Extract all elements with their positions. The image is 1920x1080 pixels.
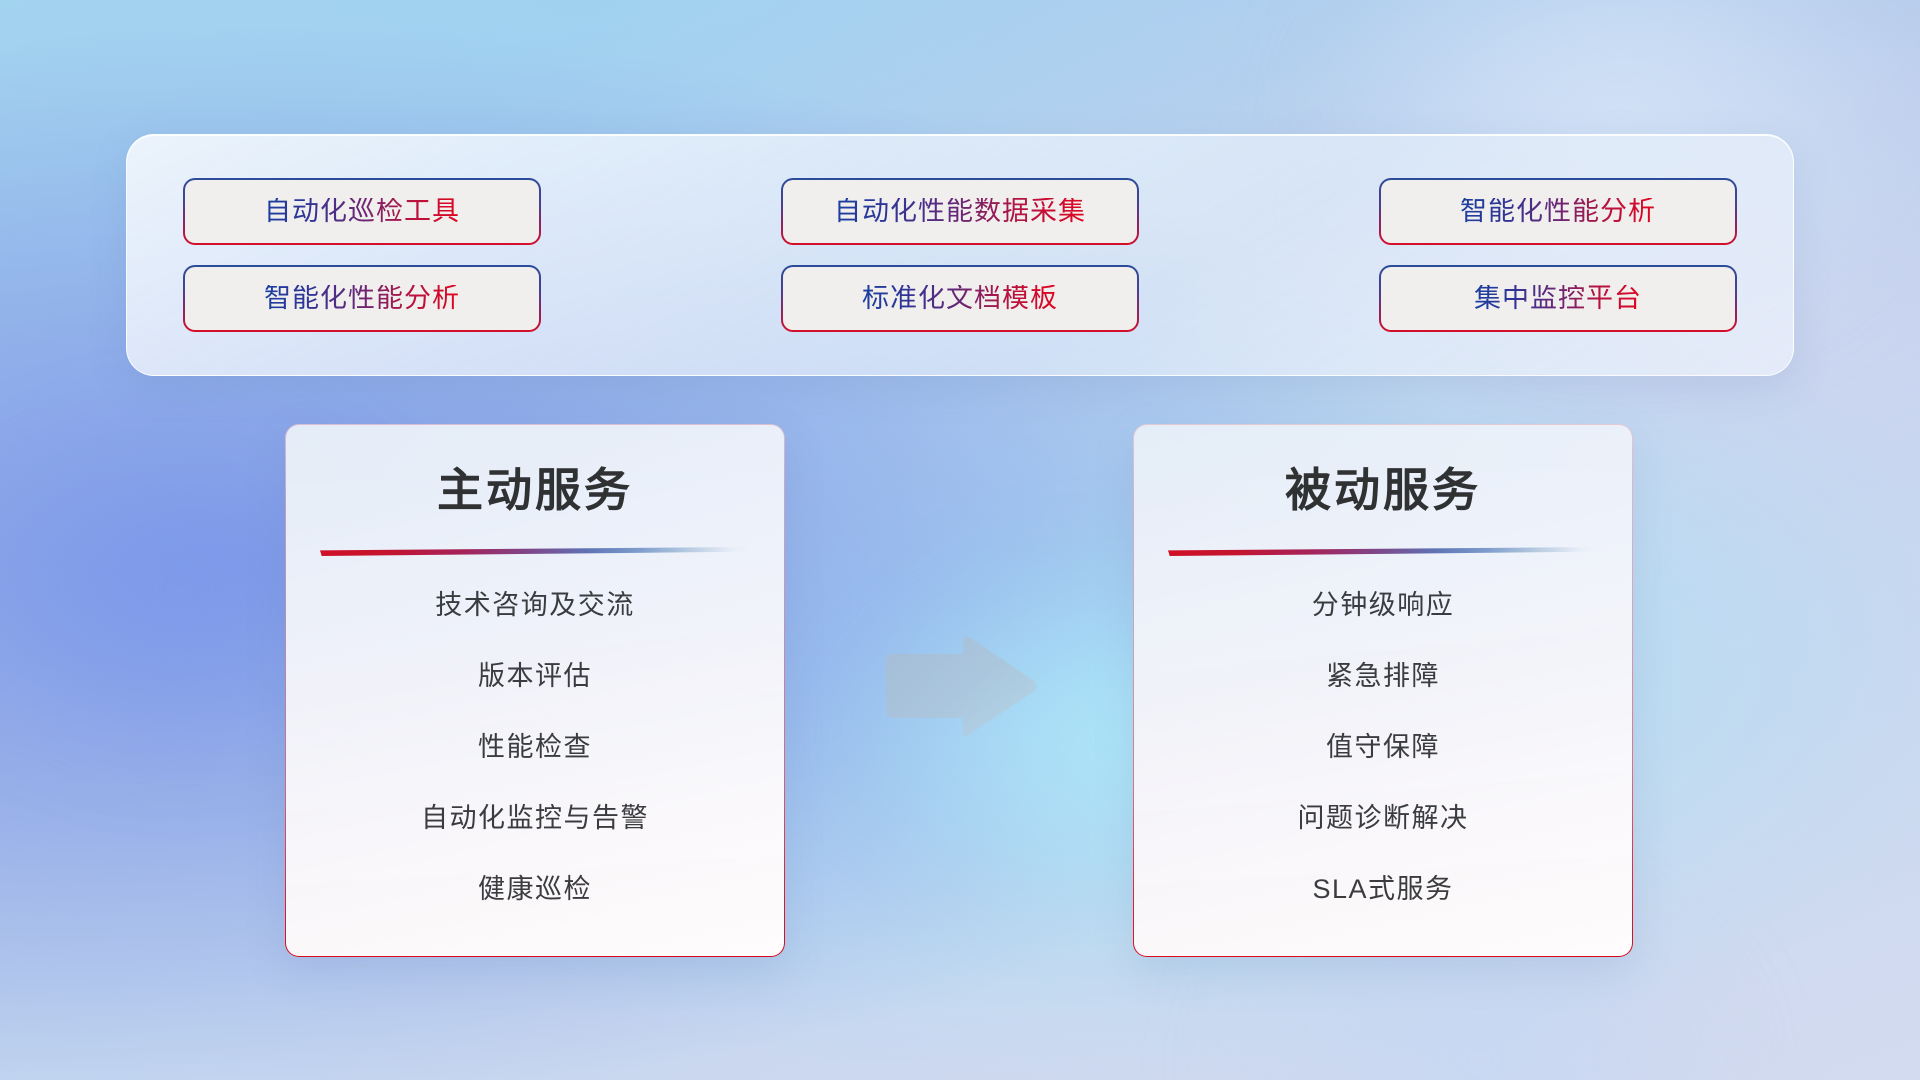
- card-divider-bar: [320, 547, 750, 556]
- capability-pill-auto-inspection-tool[interactable]: 自动化巡检工具: [183, 178, 541, 245]
- card-title: 主动服务: [437, 467, 633, 513]
- capability-pill-label: 自动化性能数据采集: [834, 198, 1086, 225]
- capability-pill-intelligent-perf-analysis-2[interactable]: 智能化性能分析: [183, 265, 541, 332]
- capability-panel: 自动化巡检工具 自动化性能数据采集 智能化性能分析 智能化性能分析 标准化文档模…: [126, 134, 1794, 376]
- list-item: 版本评估: [478, 663, 592, 690]
- list-item: 紧急排障: [1326, 663, 1440, 690]
- card-divider: [320, 547, 750, 556]
- capability-pill-label: 智能化性能分析: [1460, 198, 1656, 225]
- list-item: 技术咨询及交流: [435, 592, 635, 619]
- capability-pill-standard-doc-template[interactable]: 标准化文档模板: [781, 265, 1139, 332]
- card-list: 分钟级响应 紧急排障 值守保障 问题诊断解决 SLA式服务: [1134, 592, 1632, 903]
- card-title: 被动服务: [1285, 467, 1481, 513]
- card-divider: [1168, 547, 1598, 556]
- service-card-reactive: 被动服务 分钟级响应 紧急排障 值守保障 问题诊断解决 SLA式服务: [1133, 424, 1633, 957]
- list-item: 性能检查: [478, 734, 592, 761]
- capability-pill-label: 智能化性能分析: [264, 285, 460, 312]
- list-item: 值守保障: [1326, 734, 1440, 761]
- list-item: 自动化监控与告警: [421, 805, 649, 832]
- capability-pill-label: 集中监控平台: [1474, 285, 1642, 312]
- capability-pill-label: 标准化文档模板: [862, 285, 1058, 312]
- list-item: 健康巡检: [478, 876, 592, 903]
- arrow-right-icon: [880, 632, 1040, 740]
- list-item: 问题诊断解决: [1298, 805, 1469, 832]
- capability-pill-central-monitoring-platform[interactable]: 集中监控平台: [1379, 265, 1737, 332]
- card-list: 技术咨询及交流 版本评估 性能检查 自动化监控与告警 健康巡检: [286, 592, 784, 903]
- capability-pill-label: 自动化巡检工具: [264, 198, 460, 225]
- capability-pill-intelligent-perf-analysis-1[interactable]: 智能化性能分析: [1379, 178, 1737, 245]
- card-divider-bar: [1168, 547, 1598, 556]
- list-item: 分钟级响应: [1312, 592, 1455, 619]
- list-item: SLA式服务: [1312, 876, 1453, 903]
- capability-pill-auto-perf-data-collection[interactable]: 自动化性能数据采集: [781, 178, 1139, 245]
- capability-row-2: 智能化性能分析 标准化文档模板 集中监控平台: [183, 265, 1737, 332]
- capability-row-1: 自动化巡检工具 自动化性能数据采集 智能化性能分析: [183, 178, 1737, 245]
- service-card-proactive: 主动服务 技术咨询及交流 版本评估 性能检查 自动化监控与告警 健康巡检: [285, 424, 785, 957]
